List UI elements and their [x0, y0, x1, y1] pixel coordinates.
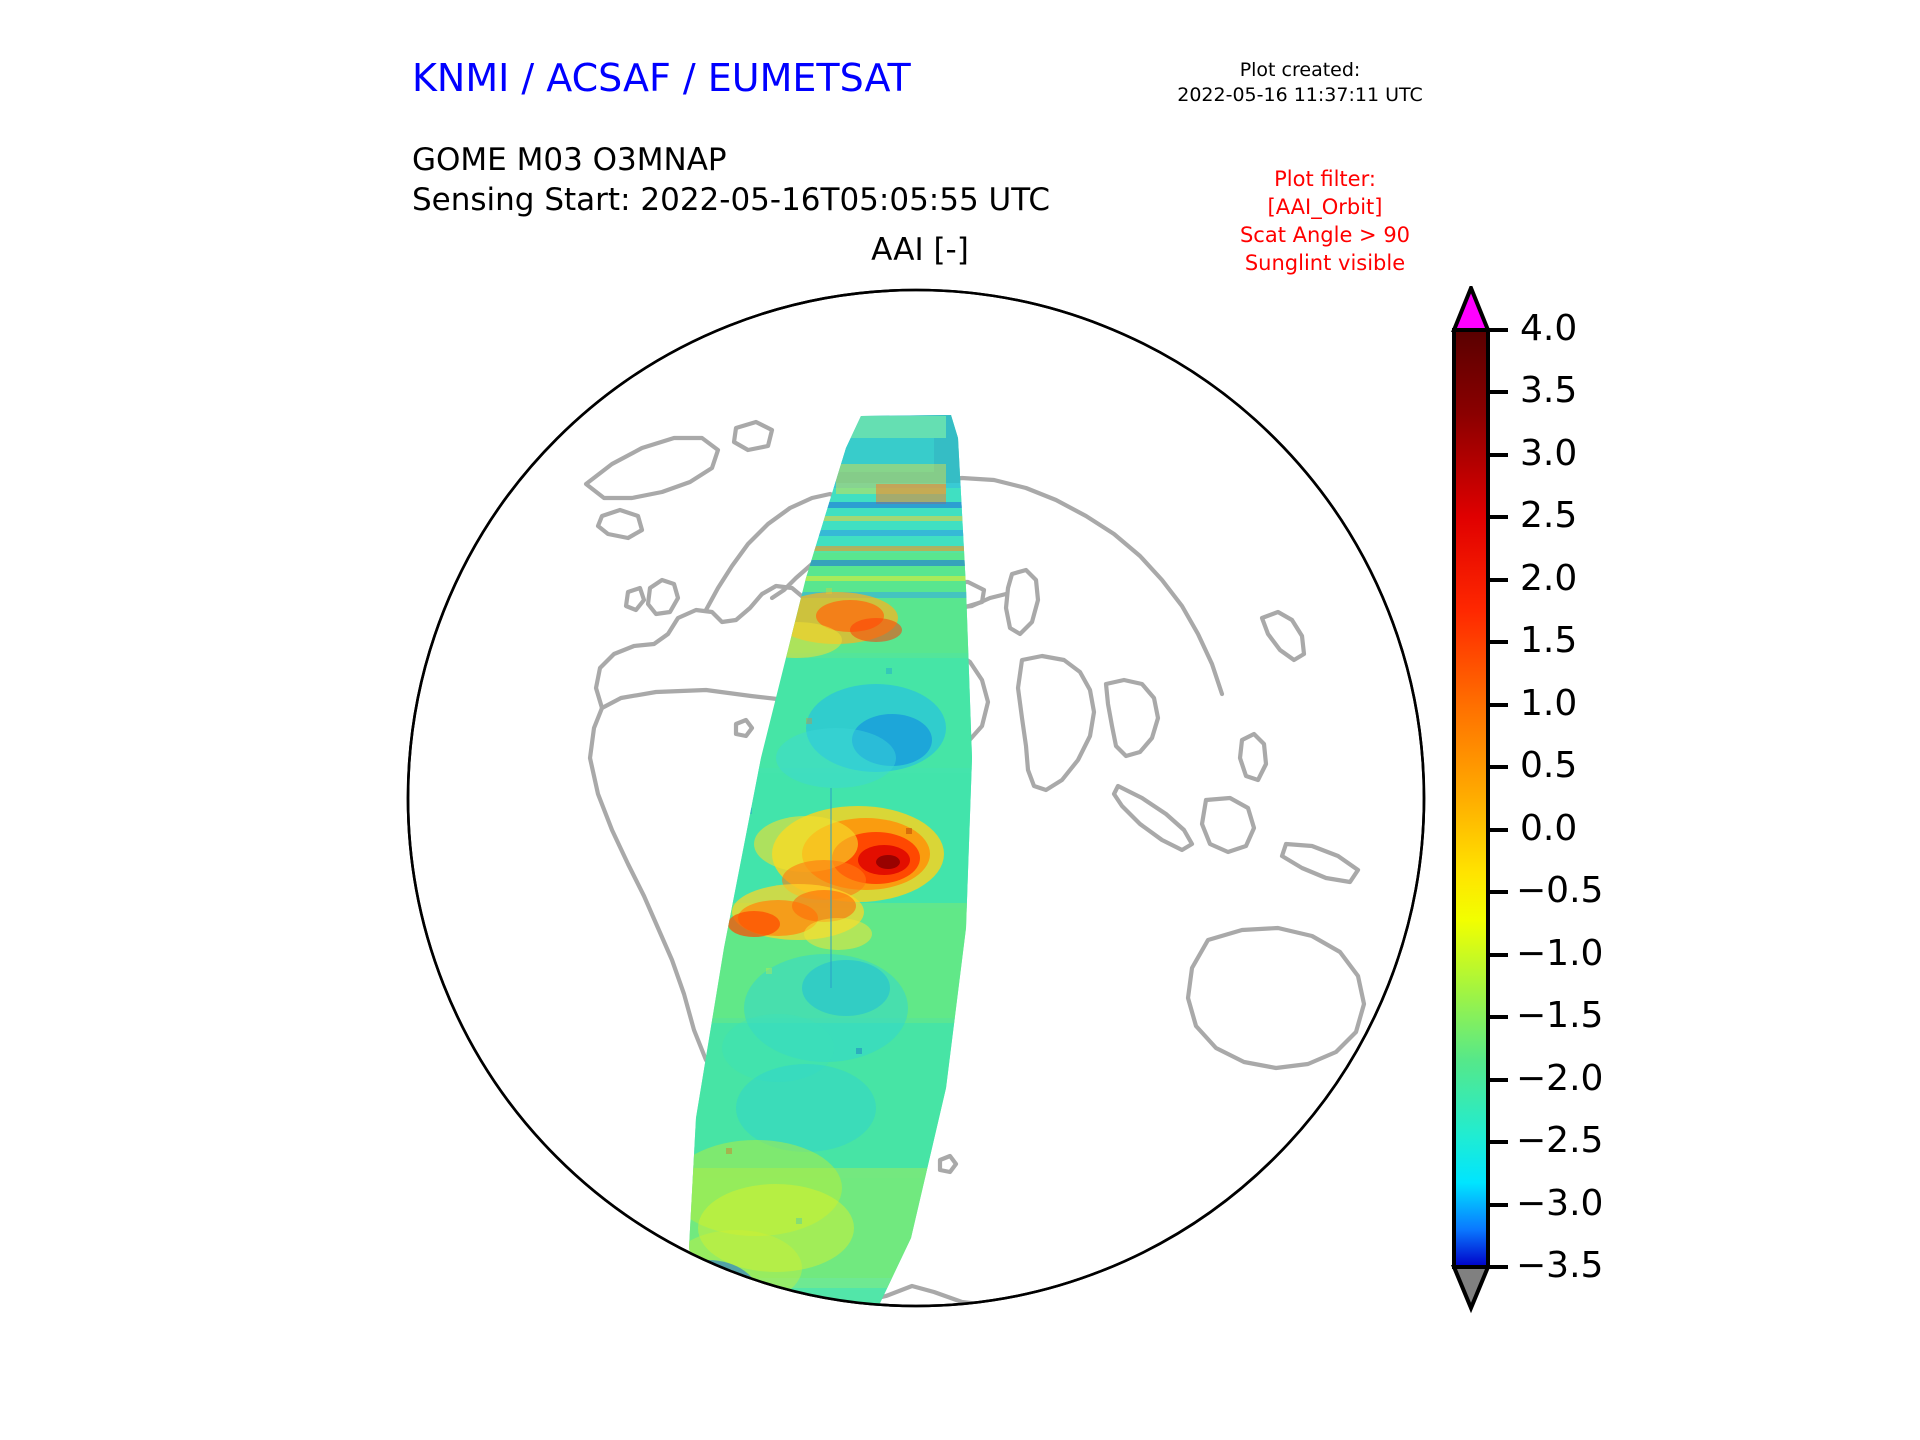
- plot-created-label: Plot created:: [1140, 58, 1460, 83]
- colorbar-tick-label: −2.0: [1516, 1058, 1603, 1099]
- colorbar-tick-label: 2.0: [1520, 558, 1577, 599]
- colorbar-tick-label: 0.0: [1520, 808, 1577, 849]
- swath-center-seam: [830, 788, 832, 988]
- colorbar-ticks: [1488, 330, 1508, 1267]
- colorbar-over-arrow: [1454, 288, 1488, 330]
- colorbar-tick-label: 1.0: [1520, 683, 1577, 724]
- variable-title: AAI [-]: [560, 232, 1280, 268]
- colorbar-tick-label: 3.0: [1520, 433, 1577, 474]
- plot-page: KNMI / ACSAF / EUMETSAT Plot created: 20…: [0, 0, 1920, 1440]
- dataset-block: GOME M03 O3MNAP Sensing Start: 2022-05-1…: [412, 140, 1050, 221]
- globe-svg: [406, 288, 1426, 1308]
- plot-filter-line-0: [AAI_Orbit]: [1180, 194, 1470, 222]
- colorbar: 4.0 3.5 3.0 2.5 2.0 1.5 1.0 0.5 0.0 −0.5…: [1446, 286, 1706, 1316]
- colorbar-tick-label: −0.5: [1516, 870, 1603, 911]
- sensing-start: Sensing Start: 2022-05-16T05:05:55 UTC: [412, 180, 1050, 220]
- dataset-name: GOME M03 O3MNAP: [412, 140, 1050, 180]
- colorbar-tick-label: −3.5: [1516, 1245, 1603, 1286]
- colorbar-tick-label: 2.5: [1520, 495, 1577, 536]
- colorbar-tick-label: −2.5: [1516, 1120, 1603, 1161]
- colorbar-gradient: [1454, 330, 1488, 1267]
- colorbar-tick-label: 3.5: [1520, 370, 1577, 411]
- plot-filter-line-2: Sunglint visible: [1180, 250, 1470, 278]
- colorbar-under-arrow: [1454, 1267, 1488, 1308]
- plot-filter-line-1: Scat Angle > 90: [1180, 222, 1470, 250]
- colorbar-tick-label: 0.5: [1520, 745, 1577, 786]
- plot-created-value: 2022-05-16 11:37:11 UTC: [1140, 83, 1460, 108]
- plot-created-block: Plot created: 2022-05-16 11:37:11 UTC: [1140, 58, 1460, 109]
- colorbar-tick-label: −1.5: [1516, 995, 1603, 1036]
- colorbar-tick-label: −3.0: [1516, 1183, 1603, 1224]
- colorbar-tick-label: 1.5: [1520, 620, 1577, 661]
- colorbar-tick-label: 4.0: [1520, 308, 1577, 349]
- colorbar-svg: 4.0 3.5 3.0 2.5 2.0 1.5 1.0 0.5 0.0 −0.5…: [1446, 286, 1706, 1316]
- globe-map: [406, 288, 1426, 1308]
- colorbar-tick-labels: 4.0 3.5 3.0 2.5 2.0 1.5 1.0 0.5 0.0 −0.5…: [1516, 308, 1603, 1286]
- plot-filter-title: Plot filter:: [1180, 166, 1470, 194]
- brand-title: KNMI / ACSAF / EUMETSAT: [412, 56, 911, 100]
- plot-filter-block: Plot filter: [AAI_Orbit] Scat Angle > 90…: [1180, 166, 1470, 278]
- colorbar-tick-label: −1.0: [1516, 933, 1603, 974]
